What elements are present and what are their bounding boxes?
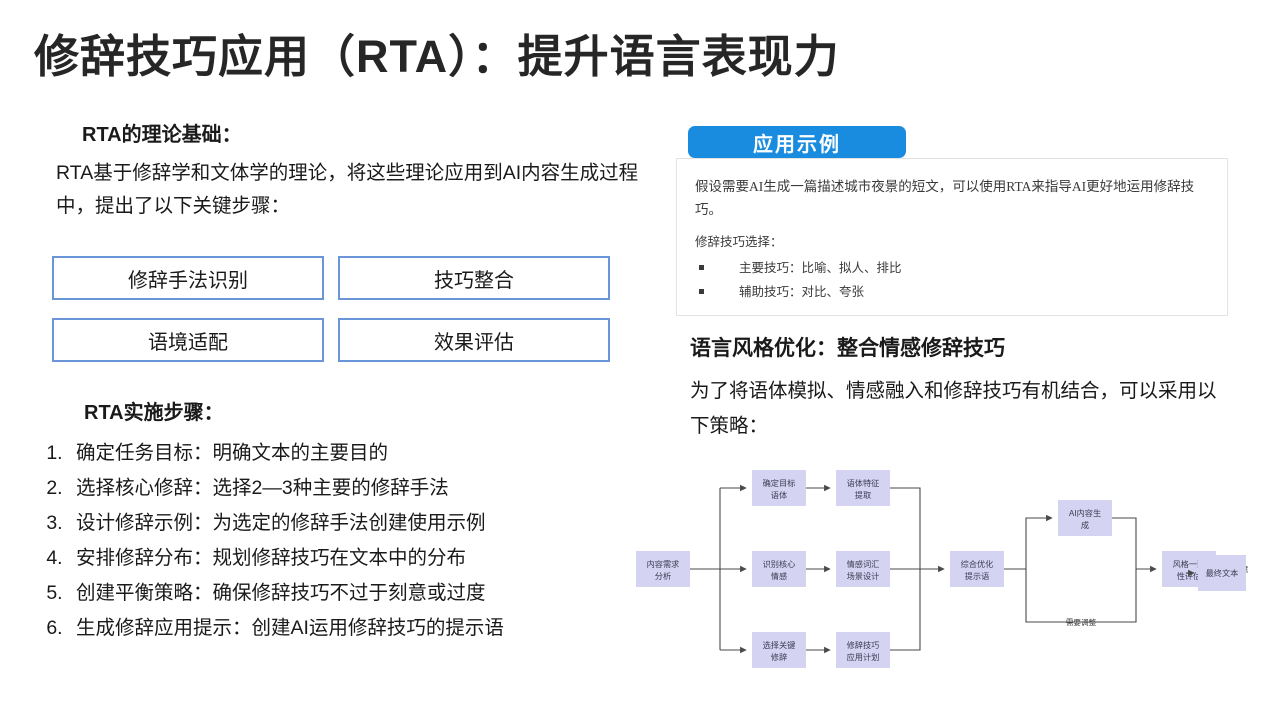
example-badge: 应用示例 <box>688 126 906 158</box>
node-ai-generation[interactable]: AI内容生 成 <box>1058 500 1112 536</box>
list-item: 创建平衡策略：确保修辞技巧不过于刻意或过度 <box>68 576 688 611</box>
node-merged-prompt[interactable]: 综合优化 提示语 <box>950 551 1004 587</box>
node-bot2-line1: 修辞技巧 <box>847 640 880 650</box>
list-item: 生成修辞应用提示：创建AI运用修辞技巧的提示语 <box>68 611 688 646</box>
node-mid2-line1: 情感词汇 <box>847 559 880 569</box>
list-item-label: 辅助技巧：对比、夸张 <box>739 285 864 299</box>
edge-loop-up <box>1026 518 1052 569</box>
list-item: 辅助技巧：对比、夸张 <box>695 280 1209 304</box>
node-input-line2: 分析 <box>655 571 671 581</box>
node-bot2-line2: 应用计划 <box>847 652 880 662</box>
square-bullet-icon <box>699 289 704 294</box>
node-emotion-lexicon[interactable]: 情感词汇 场景设计 <box>836 551 890 587</box>
left-column: RTA的理论基础： RTA基于修辞学和文体学的理论，将这些理论应用到AI内容生成… <box>52 118 652 223</box>
implementation-steps-list: 确定任务目标：明确文本的主要目的 选择核心修辞：选择2—3种主要的修辞手法 设计… <box>18 436 688 646</box>
example-sublabel: 修辞技巧选择： <box>695 231 1209 250</box>
page-title: 修辞技巧应用（RTA）：提升语言表现力 <box>34 20 1244 85</box>
list-item: 安排修辞分布：规划修辞技巧在文本中的分布 <box>68 541 688 576</box>
step-box-4[interactable]: 效果评估 <box>338 318 610 362</box>
step-box-1[interactable]: 修辞手法识别 <box>52 256 324 300</box>
node-top2-line1: 语体特征 <box>847 478 880 488</box>
node-merge-line2: 提示语 <box>965 571 990 581</box>
list-item: 主要技巧：比喻、拟人、排比 <box>695 256 1209 280</box>
rta-step-boxes: 修辞手法识别 技巧整合 语境适配 效果评估 <box>52 256 610 362</box>
node-style-feature[interactable]: 语体特征 提取 <box>836 470 890 506</box>
node-top1-line1: 确定目标 <box>763 478 796 488</box>
node-bot1-line2: 修辞 <box>771 652 787 662</box>
node-mid1-line1: 识别核心 <box>763 559 796 569</box>
node-key-rhetoric[interactable]: 选择关键 修辞 <box>752 632 806 668</box>
edge-bottom-merge <box>890 569 920 650</box>
edge-ai-eval <box>1112 518 1156 569</box>
list-item-label: 主要技巧：比喻、拟人、排比 <box>739 261 902 275</box>
edge-feedback-loop <box>1026 569 1136 622</box>
square-bullet-icon <box>699 265 704 270</box>
node-core-emotion[interactable]: 识别核心 情感 <box>752 551 806 587</box>
node-final-text[interactable]: 最终文本 <box>1198 555 1246 591</box>
node-top2-line2: 提取 <box>855 490 871 500</box>
node-merge-line1: 综合优化 <box>961 559 994 569</box>
example-paragraph: 假设需要AI生成一篇描述城市夜景的短文，可以使用RTA来指导AI更好地运用修辞技… <box>695 175 1209 221</box>
section-paragraph: 为了将语体模拟、情感融入和修辞技巧有机结合，可以采用以下策略： <box>690 374 1230 444</box>
list-item: 设计修辞示例：为选定的修辞手法创建使用示例 <box>68 506 688 541</box>
node-target-style[interactable]: 确定目标 语体 <box>752 470 806 506</box>
theory-heading: RTA的理论基础： <box>82 118 652 147</box>
node-input[interactable]: 内容需求 分析 <box>636 551 690 587</box>
step-box-3[interactable]: 语境适配 <box>52 318 324 362</box>
workflow-diagram: 需要调整 满意 内容需求 分析 确定目标 语体 语体特征 提取 识别核心 情感 … <box>628 466 1248 676</box>
node-top1-line2: 语体 <box>771 490 787 500</box>
section-heading: 语言风格优化：整合情感修辞技巧 <box>690 332 1005 362</box>
steps-heading: RTA实施步骤： <box>84 396 224 425</box>
node-input-line1: 内容需求 <box>647 559 680 569</box>
edge-label-needs-adjust: 需要调整 <box>1066 617 1097 627</box>
node-mid2-line2: 场景设计 <box>847 571 880 581</box>
final-node-wrap: 最终文本 <box>1186 553 1246 598</box>
list-item: 确定任务目标：明确文本的主要目的 <box>68 436 688 471</box>
node-mid1-line2: 情感 <box>771 571 787 581</box>
example-bullet-list: 主要技巧：比喻、拟人、排比 辅助技巧：对比、夸张 <box>695 256 1209 304</box>
theory-paragraph: RTA基于修辞学和文体学的理论，将这些理论应用到AI内容生成过程中，提出了以下关… <box>56 157 646 223</box>
node-bot1-line1: 选择关键 <box>763 640 796 650</box>
node-ai-line1: AI内容生 <box>1069 508 1101 518</box>
node-ai-line2: 成 <box>1081 520 1089 530</box>
example-panel: 假设需要AI生成一篇描述城市夜景的短文，可以使用RTA来指导AI更好地运用修辞技… <box>676 158 1228 316</box>
step-box-2[interactable]: 技巧整合 <box>338 256 610 300</box>
node-rhetoric-plan[interactable]: 修辞技巧 应用计划 <box>836 632 890 668</box>
list-item: 选择核心修辞：选择2—3种主要的修辞手法 <box>68 471 688 506</box>
edge-top-merge <box>890 488 920 569</box>
node-final-label: 最终文本 <box>1206 568 1239 578</box>
